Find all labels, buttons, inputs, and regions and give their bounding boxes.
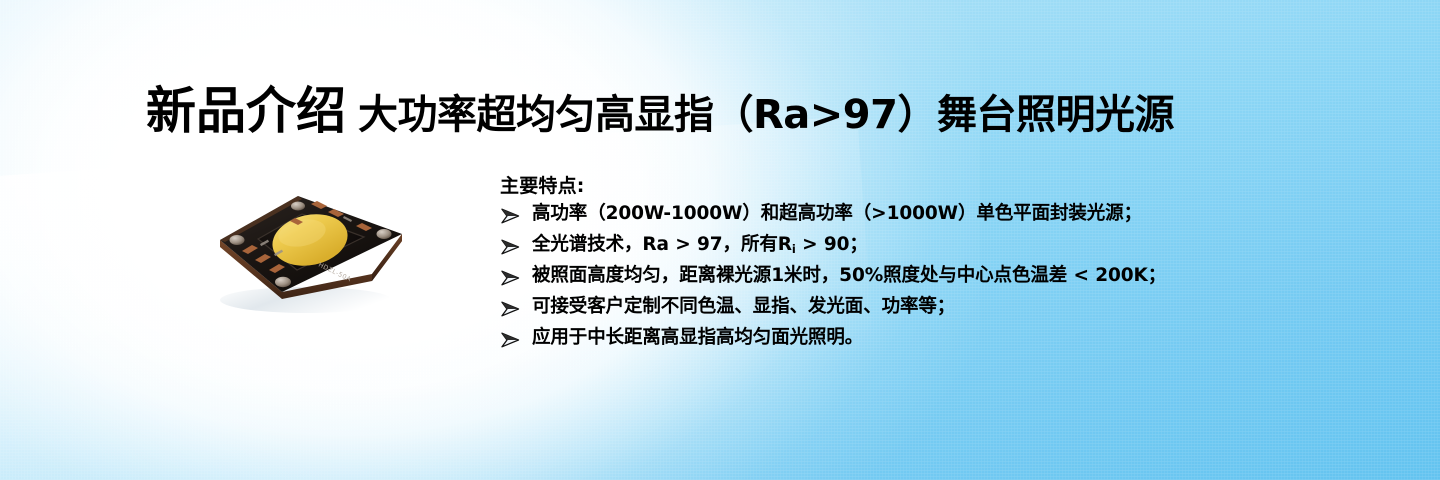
slide-canvas: 新品介绍 大功率超均匀高显指（Ra>97）舞台照明光源	[0, 0, 1440, 480]
arrowhead-bullet-icon	[500, 301, 522, 317]
features-block: 主要特点: 高功率（200W-1000W）和超高功率（>1000W）单色平面封装…	[500, 176, 1166, 348]
list-item-text: 应用于中长距离高显指高均匀面光照明。	[532, 329, 863, 348]
features-list: 高功率（200W-1000W）和超高功率（>1000W）单色平面封装光源； 全光…	[500, 205, 1166, 348]
list-item: 应用于中长距离高显指高均匀面光照明。	[500, 329, 1166, 348]
list-item-text: 可接受客户定制不同色温、显指、发光面、功率等；	[532, 298, 955, 317]
list-item-text: 全光谱技术，Ra > 97，所有Ri > 90；	[532, 236, 868, 255]
list-item: 高功率（200W-1000W）和超高功率（>1000W）单色平面封装光源；	[500, 205, 1166, 224]
mounting-hole-bottom	[275, 277, 291, 287]
list-item: 被照面高度均匀，距离裸光源1米时，50%照度处与中心点色温差 < 200K；	[500, 267, 1166, 286]
features-heading: 主要特点:	[500, 176, 1166, 197]
arrowhead-bullet-icon	[500, 270, 522, 286]
arrowhead-bullet-icon	[500, 208, 522, 224]
mounting-hole-left	[230, 235, 245, 245]
list-item-text-after: > 90；	[796, 234, 868, 255]
arrowhead-bullet-icon	[500, 239, 522, 255]
mounting-hole-right	[377, 229, 392, 239]
list-item-subscript: i	[792, 242, 796, 256]
page-title-main: 新品介绍	[146, 86, 346, 136]
list-item-text: 被照面高度均匀，距离裸光源1米时，50%照度处与中心点色温差 < 200K；	[532, 267, 1166, 286]
page-title-subtitle: 大功率超均匀高显指（Ra>97）舞台照明光源	[358, 95, 1174, 135]
mounting-hole-top	[291, 202, 305, 211]
page-title: 新品介绍 大功率超均匀高显指（Ra>97）舞台照明光源	[146, 86, 1174, 136]
list-item: 全光谱技术，Ra > 97，所有Ri > 90；	[500, 236, 1166, 255]
list-item-text: 高功率（200W-1000W）和超高功率（>1000W）单色平面封装光源；	[532, 205, 1142, 224]
list-item: 可接受客户定制不同色温、显指、发光面、功率等；	[500, 298, 1166, 317]
arrowhead-bullet-icon	[500, 332, 522, 348]
list-item-text-before: 全光谱技术，Ra > 97，所有R	[532, 234, 792, 255]
cob-led-module-image: HDZL-50A	[186, 178, 426, 320]
